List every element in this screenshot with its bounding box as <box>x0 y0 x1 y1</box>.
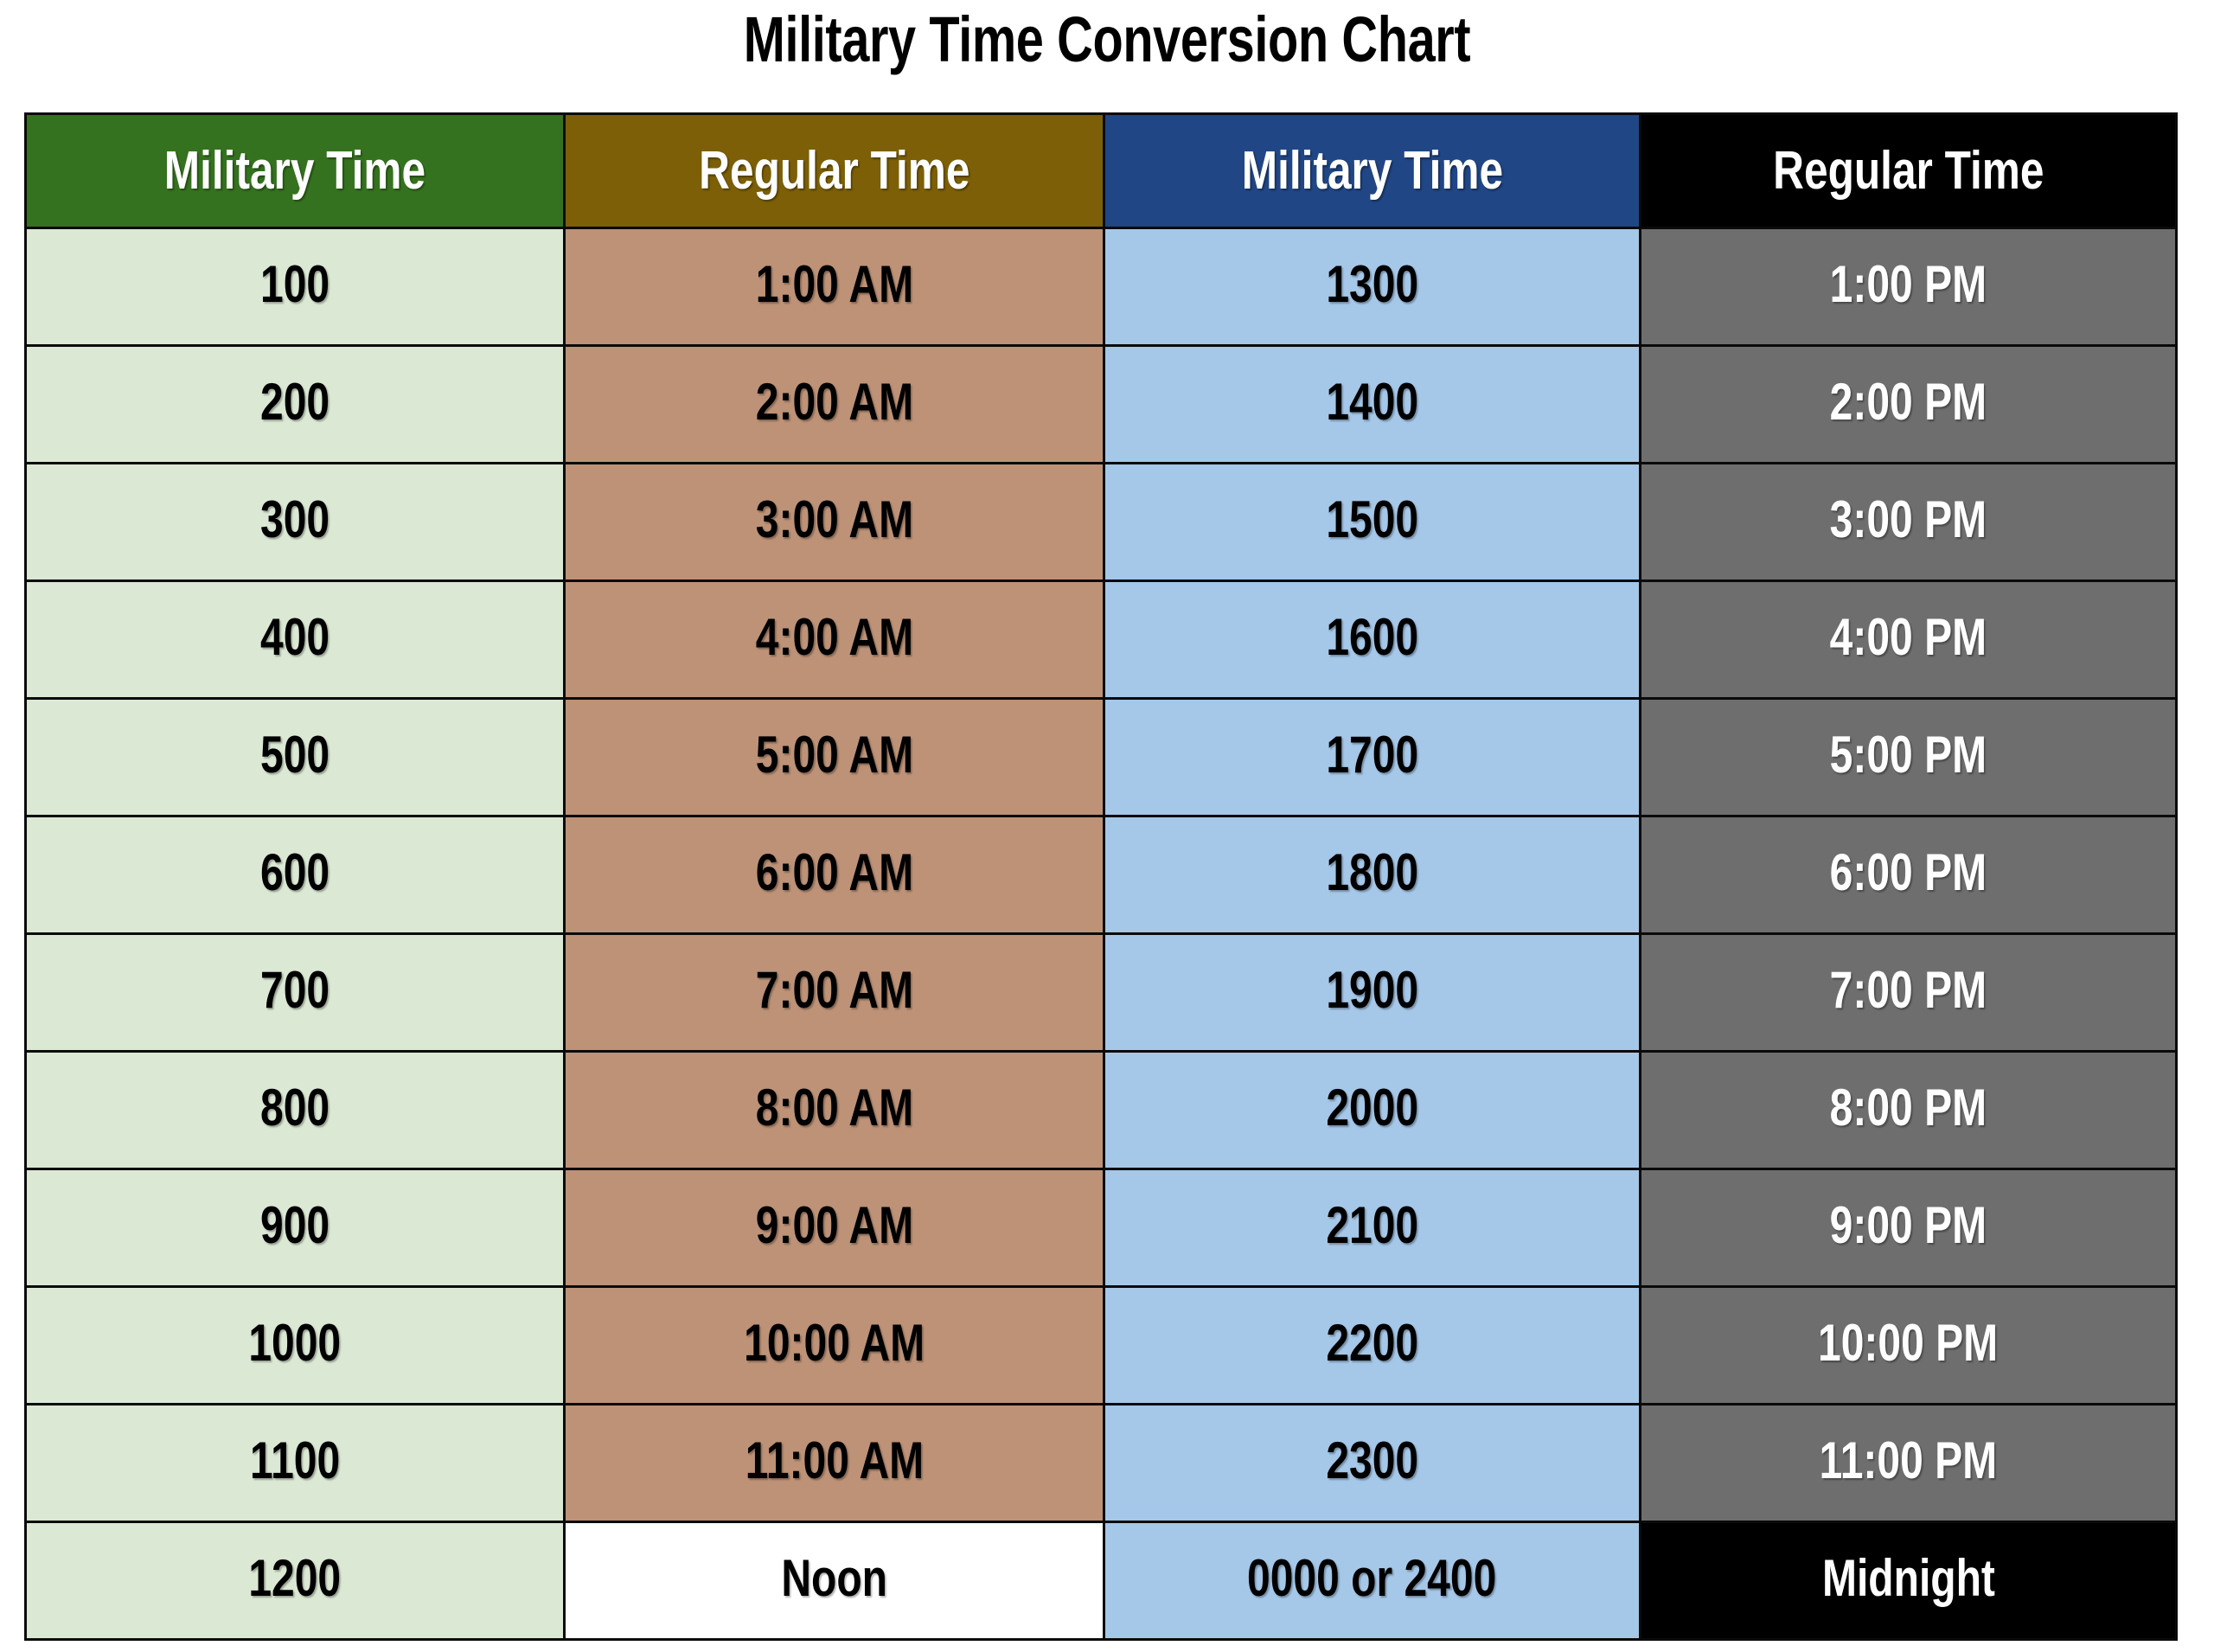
cell-value: 1100 <box>250 1435 340 1487</box>
page-title: Military Time Conversion Chart <box>244 5 1971 74</box>
cell-value: 8:00 PM <box>1830 1082 1987 1134</box>
cell-value: 10:00 AM <box>744 1317 925 1369</box>
table-cell: 10:00 AM <box>565 1287 1104 1405</box>
column-header-label: Military Time <box>164 144 426 198</box>
cell-value: 1800 <box>1326 847 1418 899</box>
cell-value: 1900 <box>1326 964 1418 1016</box>
table-body: 1001:00 AM13001:00 PM2002:00 AM14002:00 … <box>26 228 2177 1640</box>
table-row: 110011:00 AM230011:00 PM <box>26 1405 2177 1522</box>
table-row: 5005:00 AM17005:00 PM <box>26 699 2177 816</box>
table-cell: 10:00 PM <box>1641 1287 2177 1405</box>
cell-value: 2:00 AM <box>755 376 912 428</box>
table-row: 1001:00 AM13001:00 PM <box>26 228 2177 346</box>
table-row: 3003:00 AM15003:00 PM <box>26 464 2177 581</box>
cell-value: 1:00 AM <box>755 259 912 311</box>
table-row: 2002:00 AM14002:00 PM <box>26 346 2177 464</box>
chart-page: Military Time Conversion Chart Military … <box>0 0 2214 1652</box>
table-cell: 1400 <box>1104 346 1641 464</box>
cell-value: 5:00 PM <box>1830 729 1987 781</box>
cell-value: 11:00 PM <box>1820 1435 1997 1487</box>
table-cell: 3:00 PM <box>1641 464 2177 581</box>
cell-value: 100 <box>260 259 330 311</box>
table-cell: 11:00 PM <box>1641 1405 2177 1522</box>
table-cell: 700 <box>26 934 565 1052</box>
cell-value: 400 <box>260 611 330 663</box>
column-header-military-time-pm: Military Time <box>1104 114 1641 228</box>
cell-value: Noon <box>781 1553 887 1604</box>
column-header-regular-time-pm: Regular Time <box>1641 114 2177 228</box>
table-cell: 9:00 AM <box>565 1169 1104 1287</box>
table-cell: 2:00 AM <box>565 346 1104 464</box>
table-cell: 1100 <box>26 1405 565 1522</box>
table-cell: Midnight <box>1641 1522 2177 1640</box>
cell-value: 3:00 AM <box>755 494 912 546</box>
table-cell: 1600 <box>1104 581 1641 699</box>
table-row: 9009:00 AM21009:00 PM <box>26 1169 2177 1287</box>
cell-value: 200 <box>260 376 330 428</box>
cell-value: 4:00 AM <box>755 611 912 663</box>
cell-value: 1700 <box>1326 729 1418 781</box>
table-cell: 9:00 PM <box>1641 1169 2177 1287</box>
cell-value: 9:00 AM <box>755 1200 912 1252</box>
cell-value: 6:00 PM <box>1830 847 1987 899</box>
cell-value: 2100 <box>1326 1200 1418 1252</box>
cell-value: 900 <box>260 1200 330 1252</box>
cell-value: 1300 <box>1326 259 1418 311</box>
table-cell: 300 <box>26 464 565 581</box>
cell-value: 1200 <box>249 1553 342 1604</box>
table-row: 4004:00 AM16004:00 PM <box>26 581 2177 699</box>
table-cell: 1300 <box>1104 228 1641 346</box>
table-row: 8008:00 AM20008:00 PM <box>26 1052 2177 1169</box>
cell-value: 3:00 PM <box>1830 494 1987 546</box>
cell-value: 11:00 AM <box>745 1435 923 1487</box>
table-cell: 1000 <box>26 1287 565 1405</box>
table-cell: 1500 <box>1104 464 1641 581</box>
cell-value: 600 <box>260 847 330 899</box>
cell-value: 2000 <box>1326 1082 1418 1134</box>
table-cell: Noon <box>565 1522 1104 1640</box>
cell-value: 2200 <box>1326 1317 1418 1369</box>
table-cell: 2200 <box>1104 1287 1641 1405</box>
cell-value: Midnight <box>1822 1553 1995 1604</box>
table-cell: 4:00 AM <box>565 581 1104 699</box>
cell-value: 1600 <box>1326 611 1418 663</box>
table-cell: 4:00 PM <box>1641 581 2177 699</box>
table-cell: 600 <box>26 816 565 934</box>
table-cell: 11:00 AM <box>565 1405 1104 1522</box>
table-cell: 900 <box>26 1169 565 1287</box>
military-time-conversion-table: Military Time Regular Time Military Time… <box>24 112 2178 1641</box>
table-cell: 1800 <box>1104 816 1641 934</box>
cell-value: 1000 <box>249 1317 342 1369</box>
cell-value: 700 <box>260 964 330 1016</box>
table-cell: 1:00 PM <box>1641 228 2177 346</box>
cell-value: 0000 or 2400 <box>1247 1553 1496 1604</box>
cell-value: 2300 <box>1326 1435 1418 1487</box>
table-cell: 8:00 AM <box>565 1052 1104 1169</box>
cell-value: 10:00 PM <box>1818 1317 1998 1369</box>
table-cell: 8:00 PM <box>1641 1052 2177 1169</box>
table-cell: 1900 <box>1104 934 1641 1052</box>
cell-value: 5:00 AM <box>755 729 912 781</box>
cell-value: 1:00 PM <box>1830 259 1987 311</box>
table-cell: 800 <box>26 1052 565 1169</box>
cell-value: 9:00 PM <box>1830 1200 1987 1252</box>
cell-value: 500 <box>260 729 330 781</box>
cell-value: 7:00 PM <box>1830 964 1987 1016</box>
table-cell: 200 <box>26 346 565 464</box>
header-row: Military Time Regular Time Military Time… <box>26 114 2177 228</box>
table-cell: 2300 <box>1104 1405 1641 1522</box>
table-cell: 5:00 AM <box>565 699 1104 816</box>
column-header-label: Regular Time <box>1773 144 2044 198</box>
column-header-military-time-am: Military Time <box>26 114 565 228</box>
cell-value: 2:00 PM <box>1830 376 1987 428</box>
table-cell: 2000 <box>1104 1052 1641 1169</box>
cell-value: 1400 <box>1326 376 1418 428</box>
table-row: 1200Noon0000 or 2400Midnight <box>26 1522 2177 1640</box>
table-cell: 1700 <box>1104 699 1641 816</box>
cell-value: 7:00 AM <box>755 964 912 1016</box>
table-header: Military Time Regular Time Military Time… <box>26 114 2177 228</box>
table-cell: 1200 <box>26 1522 565 1640</box>
table-cell: 500 <box>26 699 565 816</box>
table-cell: 2100 <box>1104 1169 1641 1287</box>
table-row: 100010:00 AM220010:00 PM <box>26 1287 2177 1405</box>
table-cell: 5:00 PM <box>1641 699 2177 816</box>
table-cell: 7:00 AM <box>565 934 1104 1052</box>
cell-value: 4:00 PM <box>1830 611 1987 663</box>
column-header-label: Regular Time <box>699 144 969 198</box>
column-header-label: Military Time <box>1241 144 1502 198</box>
table-cell: 1:00 AM <box>565 228 1104 346</box>
cell-value: 1500 <box>1326 494 1418 546</box>
table-cell: 0000 or 2400 <box>1104 1522 1641 1640</box>
cell-value: 8:00 AM <box>755 1082 912 1134</box>
table-row: 6006:00 AM18006:00 PM <box>26 816 2177 934</box>
table-cell: 400 <box>26 581 565 699</box>
table-row: 7007:00 AM19007:00 PM <box>26 934 2177 1052</box>
table-cell: 100 <box>26 228 565 346</box>
table-cell: 2:00 PM <box>1641 346 2177 464</box>
table-cell: 3:00 AM <box>565 464 1104 581</box>
cell-value: 6:00 AM <box>755 847 912 899</box>
cell-value: 800 <box>260 1082 330 1134</box>
table-cell: 6:00 AM <box>565 816 1104 934</box>
column-header-regular-time-am: Regular Time <box>565 114 1104 228</box>
cell-value: 300 <box>260 494 330 546</box>
table-cell: 6:00 PM <box>1641 816 2177 934</box>
table-cell: 7:00 PM <box>1641 934 2177 1052</box>
